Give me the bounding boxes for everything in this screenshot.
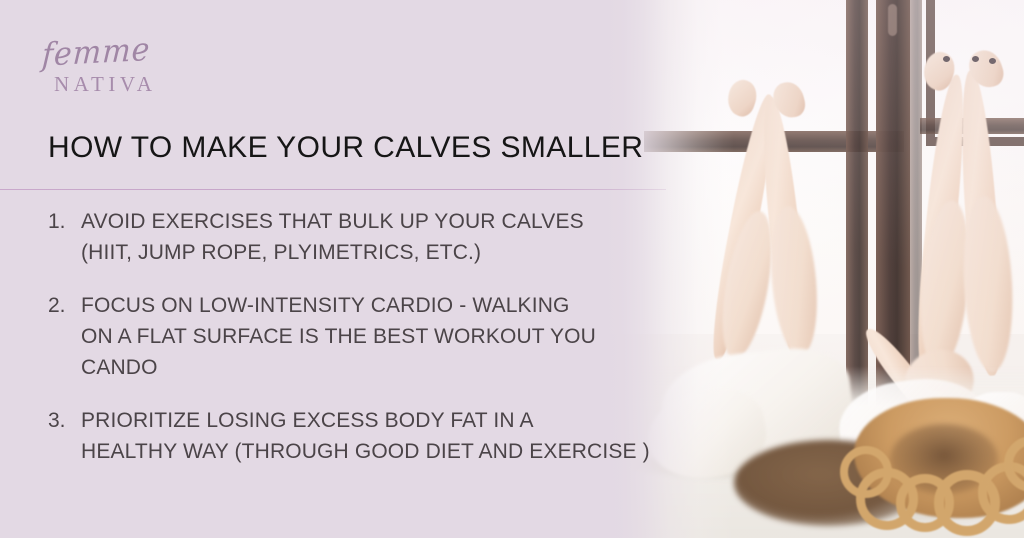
- page-title: HOW TO MAKE YOUR CALVES SMALLER: [48, 131, 643, 165]
- tips-list: 1. AVOID EXERCISES THAT BULK UP YOUR CAL…: [48, 206, 748, 489]
- brand-logo-word: NATIVA: [54, 72, 156, 97]
- window-latch-icon: [888, 4, 897, 36]
- brand-logo-script: femme: [41, 31, 151, 74]
- list-item-text: FOCUS ON LOW-INTENSITY CARDIO - WALKING …: [81, 290, 748, 383]
- brand-logo[interactable]: femme NATIVA: [42, 38, 272, 100]
- list-item-number: 3.: [48, 405, 81, 436]
- list-item: 3. PRIORITIZE LOSING EXCESS BODY FAT IN …: [48, 405, 748, 467]
- list-item-text: AVOID EXERCISES THAT BULK UP YOUR CALVES…: [81, 206, 748, 268]
- toenail-c: [989, 58, 996, 64]
- hair-curl-e: [840, 446, 892, 498]
- title-divider: [0, 189, 666, 190]
- list-item-number: 1.: [48, 206, 81, 237]
- toenail-a: [943, 56, 950, 62]
- toenail-b: [972, 56, 979, 62]
- list-item-number: 2.: [48, 290, 81, 321]
- infographic-canvas: femme NATIVA HOW TO MAKE YOUR CALVES SMA…: [0, 0, 1024, 538]
- list-item-text: PRIORITIZE LOSING EXCESS BODY FAT IN A H…: [81, 405, 748, 467]
- list-item: 2. FOCUS ON LOW-INTENSITY CARDIO - WALKI…: [48, 290, 748, 383]
- list-item: 1. AVOID EXERCISES THAT BULK UP YOUR CAL…: [48, 206, 748, 268]
